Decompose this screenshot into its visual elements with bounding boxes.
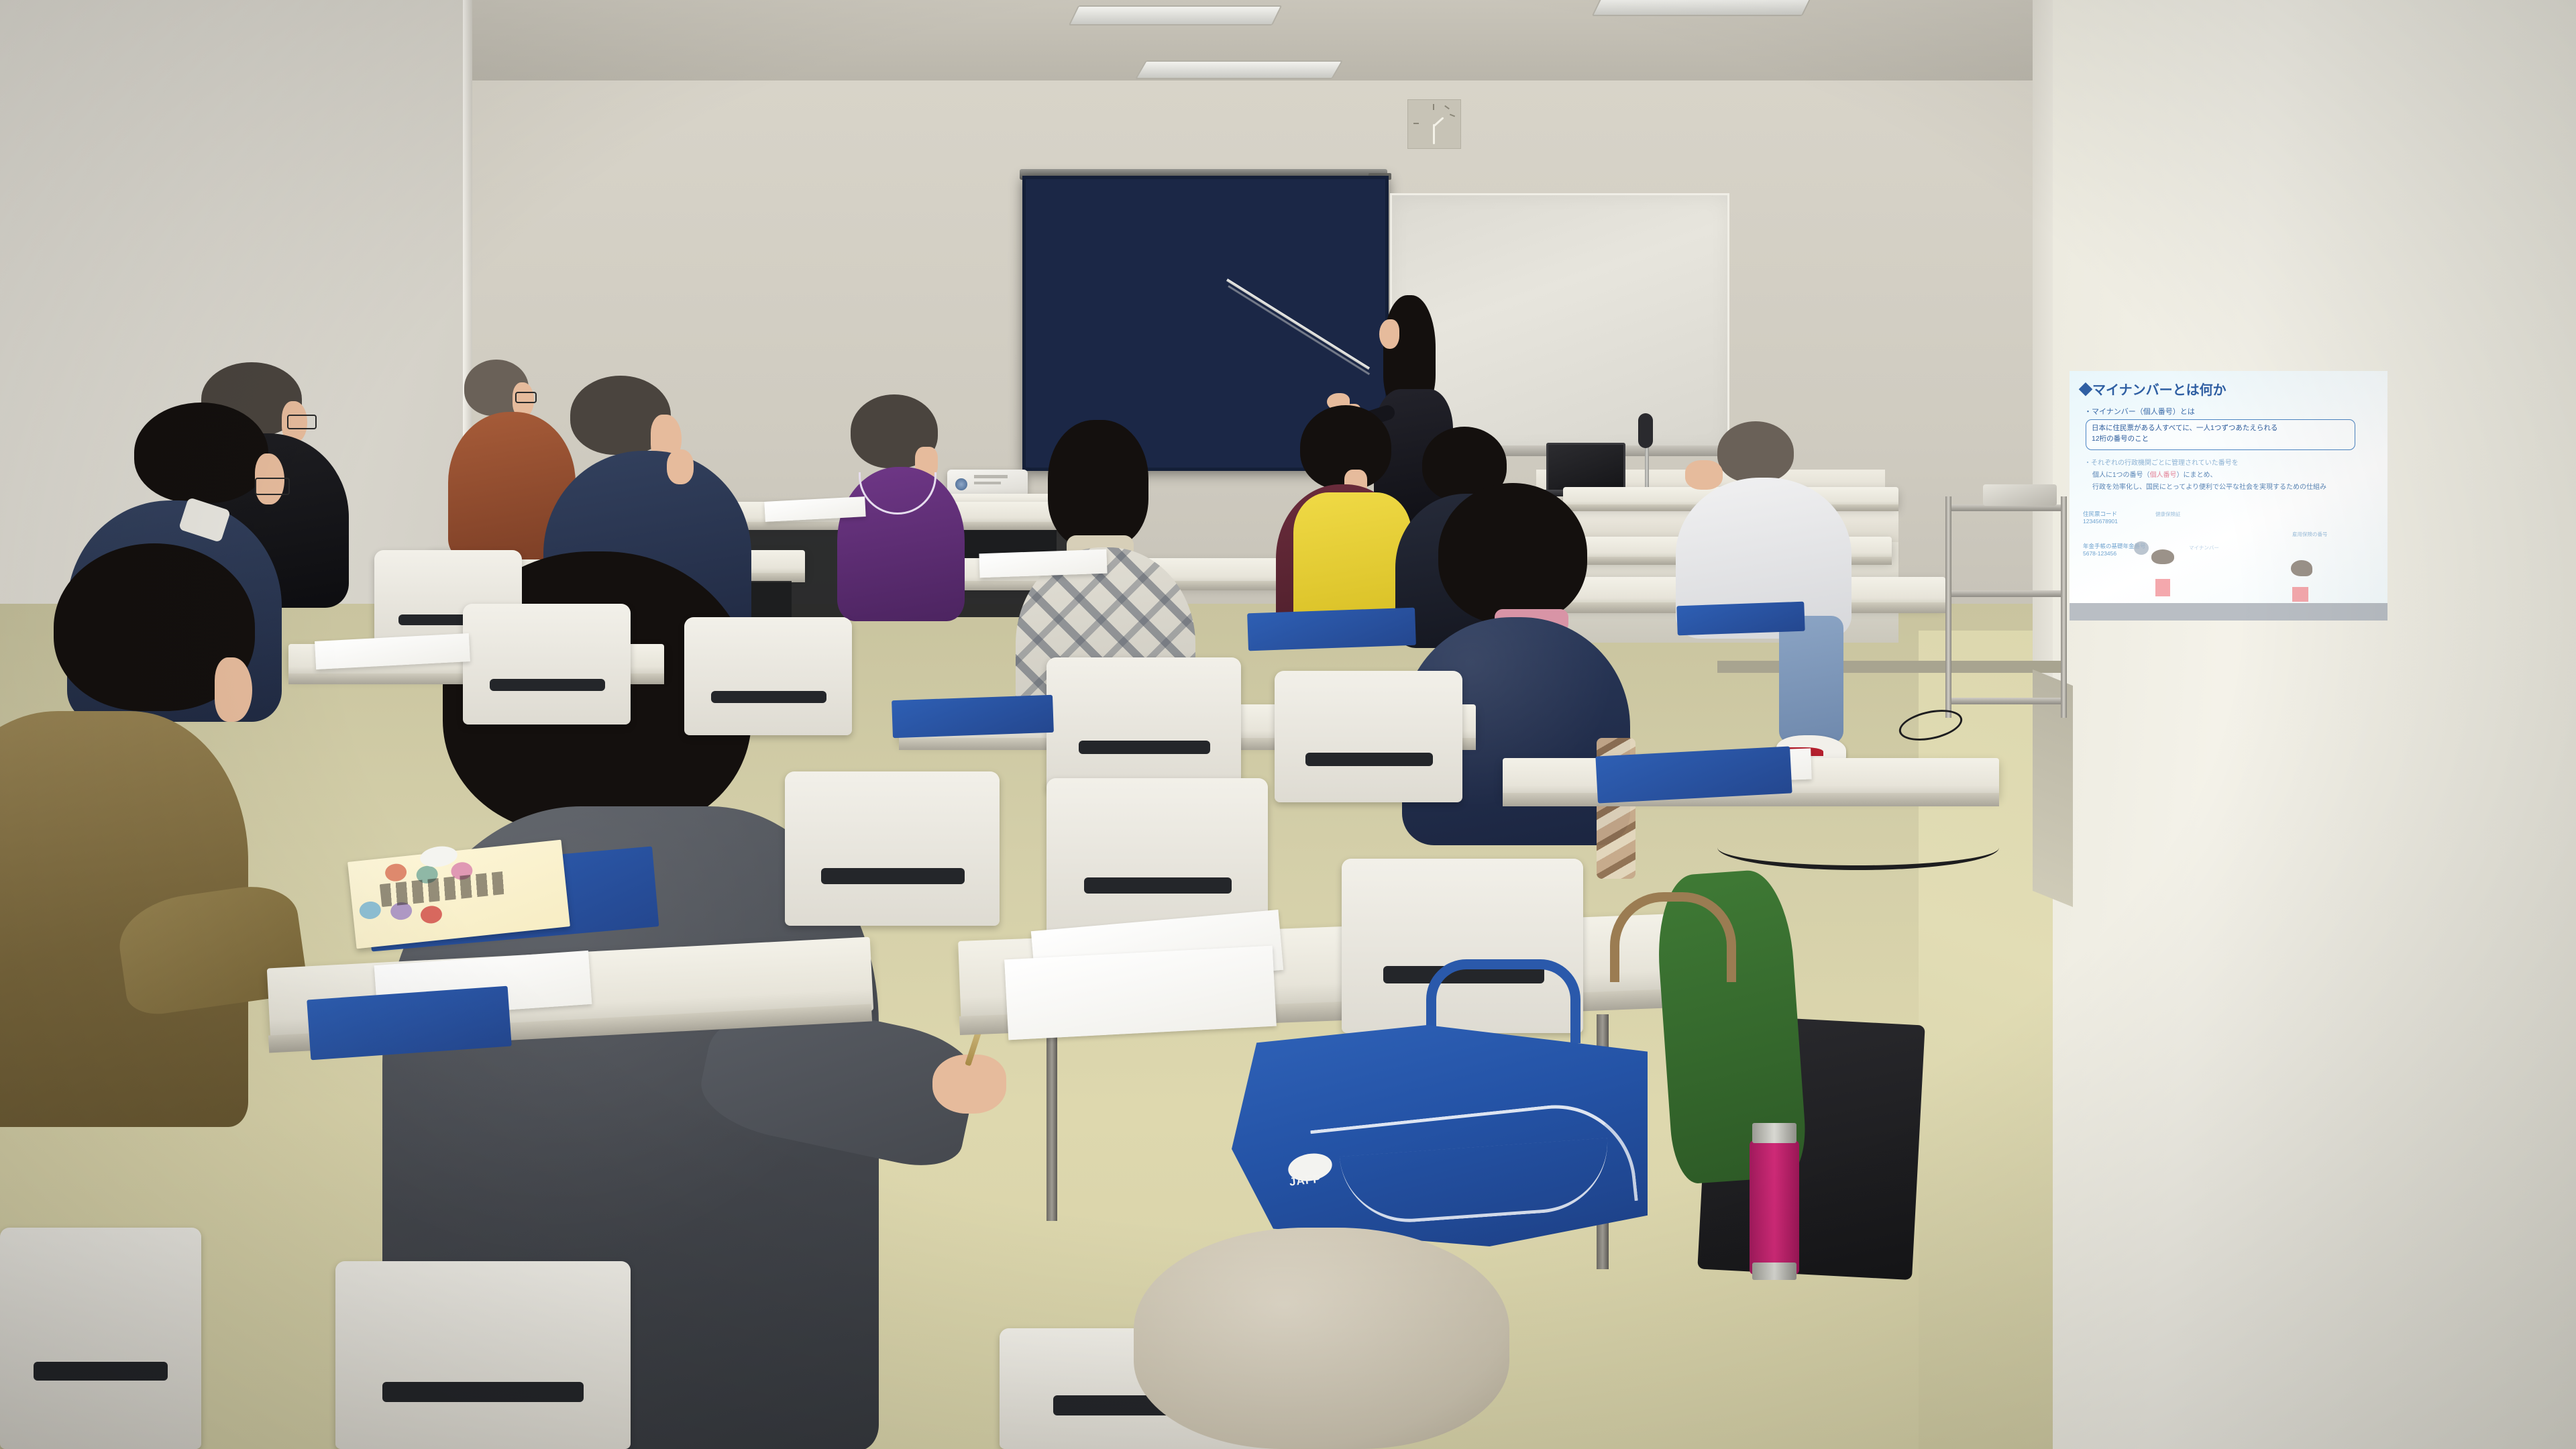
clock-tick-2 bbox=[1450, 114, 1455, 117]
clock-tick-1 bbox=[1444, 105, 1450, 109]
cart-post-left bbox=[1945, 496, 1951, 718]
right-wall bbox=[2053, 0, 2576, 1449]
clock-tick-9 bbox=[1413, 123, 1419, 124]
chair-slot bbox=[34, 1362, 168, 1381]
tote-bag[interactable]: JAFP bbox=[1228, 953, 1657, 1275]
ceiling-light-3 bbox=[1135, 60, 1343, 79]
ceiling-light-2 bbox=[1592, 0, 1813, 16]
slide-juminhyo-number: 12345678901 bbox=[2083, 518, 2118, 525]
chair-center-left[interactable] bbox=[684, 617, 852, 735]
attendee-navy-chin-hand bbox=[667, 449, 694, 484]
chair-mid-left[interactable] bbox=[463, 604, 631, 724]
slide-box-line2: 12桁の番号のこと bbox=[2092, 434, 2353, 445]
chair-foreground-center[interactable] bbox=[335, 1261, 631, 1449]
slide-content: ◆マイナンバーとは何か ・マイナンバー（個人番号）とは 日本に住民票がある人すべ… bbox=[2070, 371, 2387, 621]
cart-equipment bbox=[1983, 484, 2057, 506]
attendee-white-shirt-jeans bbox=[1779, 616, 1843, 743]
attendee-black-jacket-glasses bbox=[287, 415, 317, 429]
leather-bag-handle bbox=[1610, 892, 1736, 982]
pointer-stick-shadow bbox=[1228, 285, 1370, 375]
slide-box-line1: 日本に住民票がある人すべてに、一人1つずつあたえられる bbox=[2092, 423, 2353, 434]
slide-bullet-3-post: ）にまとめ、 bbox=[2177, 472, 2217, 479]
chair-foreground-left[interactable] bbox=[0, 1228, 201, 1449]
attendee-diamond-sweater-hair bbox=[1048, 420, 1148, 547]
slide-label-right: 雇用保険の番号 bbox=[2292, 531, 2328, 538]
slide-figure-body-left bbox=[2155, 579, 2170, 596]
cart-post-right bbox=[2061, 496, 2067, 718]
attendee-navy-cardigan-glasses bbox=[255, 478, 290, 495]
water-bottle-base bbox=[1752, 1263, 1796, 1280]
chair-center[interactable] bbox=[1046, 657, 1241, 792]
slide-title: ◆マイナンバーとは何か bbox=[2079, 379, 2226, 398]
attendee-rust-glasses bbox=[515, 392, 537, 403]
tote-bag-flat-left[interactable] bbox=[892, 695, 1054, 738]
slide-bullet-3-pre: 個人に1つの番号（ bbox=[2092, 472, 2150, 479]
slide-juminhyo-label: 住民票コード bbox=[2083, 511, 2118, 518]
wall-clock bbox=[1407, 99, 1461, 149]
chair-row-front-left[interactable] bbox=[785, 771, 1000, 926]
chair-center-right[interactable] bbox=[1275, 671, 1462, 802]
chair-slot bbox=[711, 691, 826, 703]
floor-cable-run bbox=[1717, 825, 1999, 870]
slide-figure-head-right bbox=[2291, 560, 2312, 576]
chair-slot bbox=[490, 679, 605, 691]
booklet-badge-1 bbox=[384, 863, 408, 882]
slide-footer-band bbox=[2070, 603, 2387, 621]
projector bbox=[947, 470, 1028, 496]
presenter-face bbox=[1379, 319, 1399, 349]
chair-slot bbox=[1305, 753, 1433, 766]
attendee-tan-jacket-face bbox=[215, 657, 252, 722]
booklet-badge-6 bbox=[420, 905, 443, 924]
slide-figure-head-left bbox=[2151, 549, 2174, 564]
attendee-yellow-vest-vest bbox=[1293, 492, 1411, 627]
booklet-badge-4 bbox=[359, 900, 382, 920]
slide-label-center: 健康保険証 bbox=[2155, 511, 2181, 518]
slide-bullet-3-highlight: 個人番号 bbox=[2150, 472, 2177, 479]
slide-icon-badge bbox=[2134, 541, 2149, 555]
microphone[interactable] bbox=[1638, 413, 1653, 448]
classroom-scene: ◆マイナンバーとは何か ・マイナンバー（個人番号）とは 日本に住民票がある人すべ… bbox=[0, 0, 2576, 1449]
slide-bullet-1: ・マイナンバー（個人番号）とは bbox=[2084, 406, 2195, 417]
pointer-stick bbox=[1226, 278, 1370, 370]
cart-shelf-bottom bbox=[1945, 698, 2066, 704]
slide-highlight-box: 日本に住民票がある人すべてに、一人1つずつあたえられる 12桁の番号のこと bbox=[2086, 419, 2355, 450]
projector-lens bbox=[955, 478, 967, 490]
tote-bag-flat-mid[interactable] bbox=[1247, 608, 1416, 651]
slide-bullet-3: 個人に1つの番号（個人番号）にまとめ、 bbox=[2092, 469, 2217, 479]
desk-front-right-leg-2 bbox=[1046, 1020, 1057, 1221]
slide-bullet-2: ・それぞれの行政機関ごとに管理されていた番号を bbox=[2084, 457, 2239, 467]
ceiling-light-1 bbox=[1069, 5, 1283, 25]
projector-vent bbox=[974, 475, 1008, 478]
cart-shelf-mid bbox=[1945, 590, 2066, 597]
projector-vent-2 bbox=[974, 482, 1001, 484]
attendee-navy-cardigan-hair bbox=[134, 402, 268, 503]
attendee-navy-knit-hair bbox=[1438, 483, 1587, 624]
chair-slot bbox=[1084, 877, 1232, 894]
clock-tick-12 bbox=[1433, 104, 1434, 110]
slide-figure-body-right bbox=[2292, 587, 2308, 602]
water-bottle-cap bbox=[1752, 1123, 1796, 1143]
handout-mid[interactable] bbox=[979, 549, 1107, 578]
chair-slot bbox=[821, 868, 965, 884]
slide-bullet-4: 行政を効率化し、国民にとってより便利で公平な社会を実現するための仕組み bbox=[2092, 481, 2326, 491]
slide-caption-center: マイナンバー bbox=[2189, 544, 2219, 551]
water-bottle[interactable] bbox=[1750, 1140, 1799, 1275]
baseboard-right bbox=[2033, 669, 2073, 907]
chair-slot bbox=[382, 1382, 584, 1402]
fleece-blanket[interactable] bbox=[1134, 1228, 1509, 1449]
clock-minute-hand bbox=[1433, 124, 1435, 144]
baseboard-back bbox=[1717, 661, 2066, 673]
slide-box-text: 日本に住民票がある人すべてに、一人1つずつあたえられる 12桁の番号のこと bbox=[2092, 423, 2353, 445]
slide-label-juminhyo: 住民票コード 12345678901 bbox=[2083, 511, 2118, 526]
tote-bag-flat-row2[interactable] bbox=[1676, 602, 1805, 636]
attendee-white-shirt-hair bbox=[1717, 421, 1794, 483]
chair-slot bbox=[1079, 741, 1210, 754]
attendee-white-shirt-hand bbox=[1685, 460, 1723, 490]
